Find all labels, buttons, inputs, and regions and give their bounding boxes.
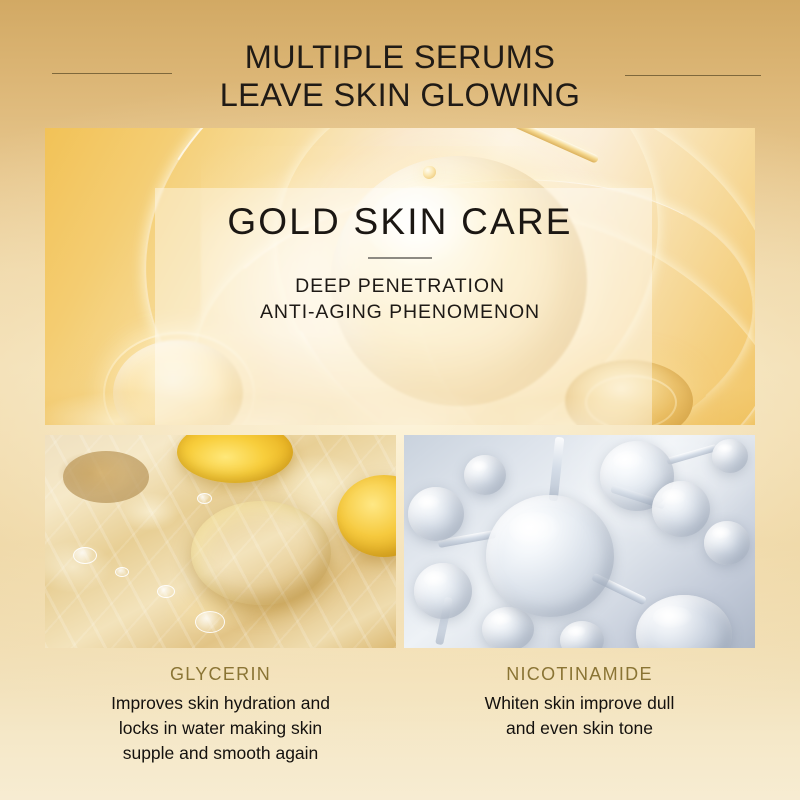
bubble-icon: [73, 547, 97, 564]
molecule-sphere-icon: [652, 481, 710, 537]
ingredient-card-nicotinamide: NICOTINAMIDE Whiten skin improve dull an…: [404, 435, 755, 741]
bubble-icon: [157, 585, 175, 598]
ingredient-card-glycerin: GLYCERIN Improves skin hydration and loc…: [45, 435, 396, 766]
ingredient-description-nicotinamide: Whiten skin improve dull and even skin t…: [404, 691, 755, 741]
molecule-sphere-icon: [482, 607, 534, 648]
oil-droplet-icon: [63, 451, 149, 503]
molecule-sphere-icon: [408, 487, 464, 541]
bubble-icon: [115, 567, 129, 577]
headline-line-2: LEAVE SKIN GLOWING: [0, 76, 800, 114]
oil-droplet-icon: [191, 501, 331, 605]
hero-subtitle-line-2: ANTI-AGING PHENOMENON: [260, 299, 540, 325]
molecule-sphere-icon: [414, 563, 472, 619]
molecule-bond-icon: [666, 444, 718, 465]
hero-subtitle-line-1: DEEP PENETRATION: [295, 273, 505, 299]
molecule-sphere-icon: [712, 439, 748, 473]
ingredient-name-nicotinamide: NICOTINAMIDE: [404, 664, 755, 685]
headline-rule-right: [625, 75, 761, 76]
molecule-sphere-icon: [636, 595, 732, 648]
glycerin-photo: [45, 435, 396, 648]
nicotinamide-photo: [404, 435, 755, 648]
headline-rule-left: [52, 73, 172, 74]
molecule-sphere-icon: [560, 621, 604, 648]
headline-line-1: MULTIPLE SERUMS: [0, 38, 800, 76]
hero-divider: [368, 257, 432, 259]
bubble-icon: [195, 611, 225, 633]
molecule-bond-icon: [549, 437, 565, 502]
page-headline: MULTIPLE SERUMS LEAVE SKIN GLOWING: [0, 38, 800, 114]
molecule-sphere-main-icon: [486, 495, 614, 617]
molecule-sphere-icon: [464, 455, 506, 495]
ingredient-description-glycerin: Improves skin hydration and locks in wat…: [45, 691, 396, 766]
bubble-icon: [197, 493, 212, 504]
ingredient-name-glycerin: GLYCERIN: [45, 664, 396, 685]
hero-banner: GOLD SKIN CARE DEEP PENETRATION ANTI-AGI…: [45, 128, 755, 425]
molecule-sphere-icon: [704, 521, 750, 565]
hero-text-block: GOLD SKIN CARE DEEP PENETRATION ANTI-AGI…: [45, 128, 755, 425]
hero-title: GOLD SKIN CARE: [227, 200, 572, 244]
